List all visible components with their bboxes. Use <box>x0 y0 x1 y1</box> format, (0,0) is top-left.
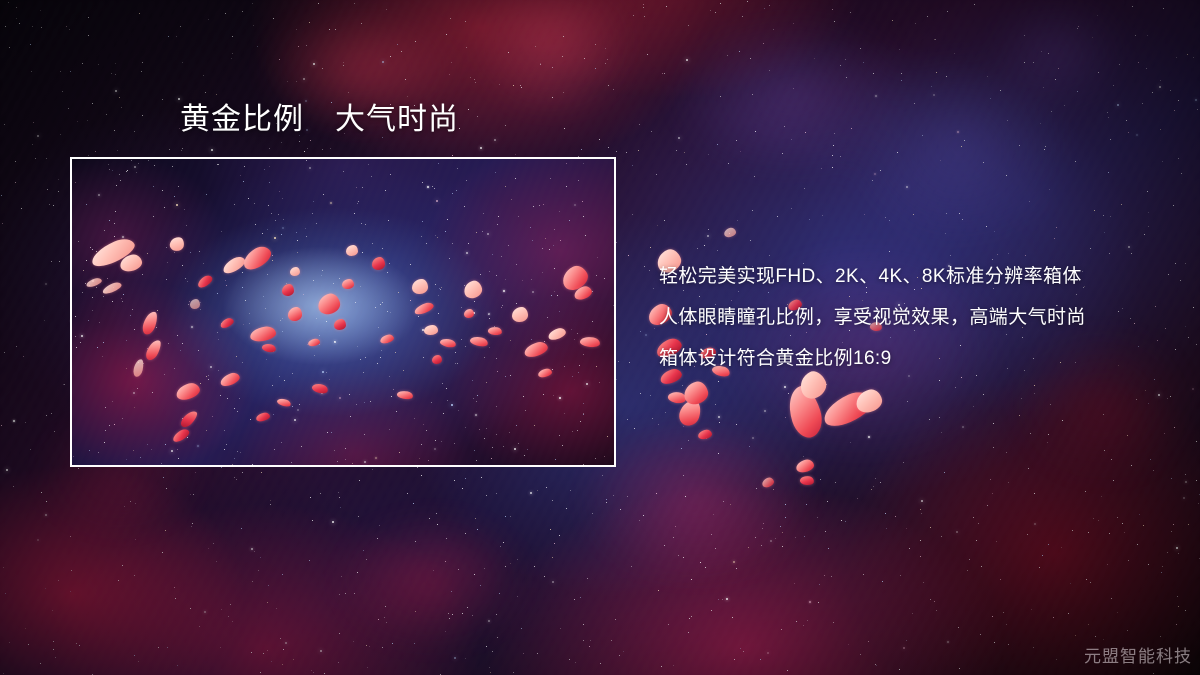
company-watermark: 元盟智能科技 <box>1084 642 1192 667</box>
petal <box>432 355 442 364</box>
petal <box>761 476 775 488</box>
framed-product-image <box>70 157 616 467</box>
petal <box>424 325 438 335</box>
petal <box>697 429 712 440</box>
petal <box>342 279 354 289</box>
petal <box>282 284 294 296</box>
petal <box>464 309 474 318</box>
description-line-2: 人体眼睛瞳孔比例，享受视觉效果，高端大气时尚 <box>659 297 1179 338</box>
slide-title: 黄金比例 大气时尚 <box>180 101 459 139</box>
description-text-block: 轻松完美实现FHD、2K、4K、8K标准分辨率箱体 人体眼睛瞳孔比例，享受视觉效… <box>659 256 1179 379</box>
petal <box>799 475 814 486</box>
petal <box>288 307 302 321</box>
description-line-3: 箱体设计符合黄金比例16:9 <box>659 338 1179 379</box>
petal <box>372 257 385 270</box>
description-line-1: 轻松完美实现FHD、2K、4K、8K标准分辨率箱体 <box>659 256 1179 297</box>
petal <box>190 299 200 309</box>
petal <box>795 458 815 473</box>
petal <box>346 245 358 256</box>
petal <box>512 307 528 322</box>
petal <box>334 319 346 330</box>
presentation-slide: 黄金比例 大气时尚 轻松完美实现FHD、2K、4K、8K标准分辨率箱体 人体眼睛… <box>0 0 1200 675</box>
petal <box>290 267 300 276</box>
petal <box>723 227 737 238</box>
petal <box>412 279 428 294</box>
